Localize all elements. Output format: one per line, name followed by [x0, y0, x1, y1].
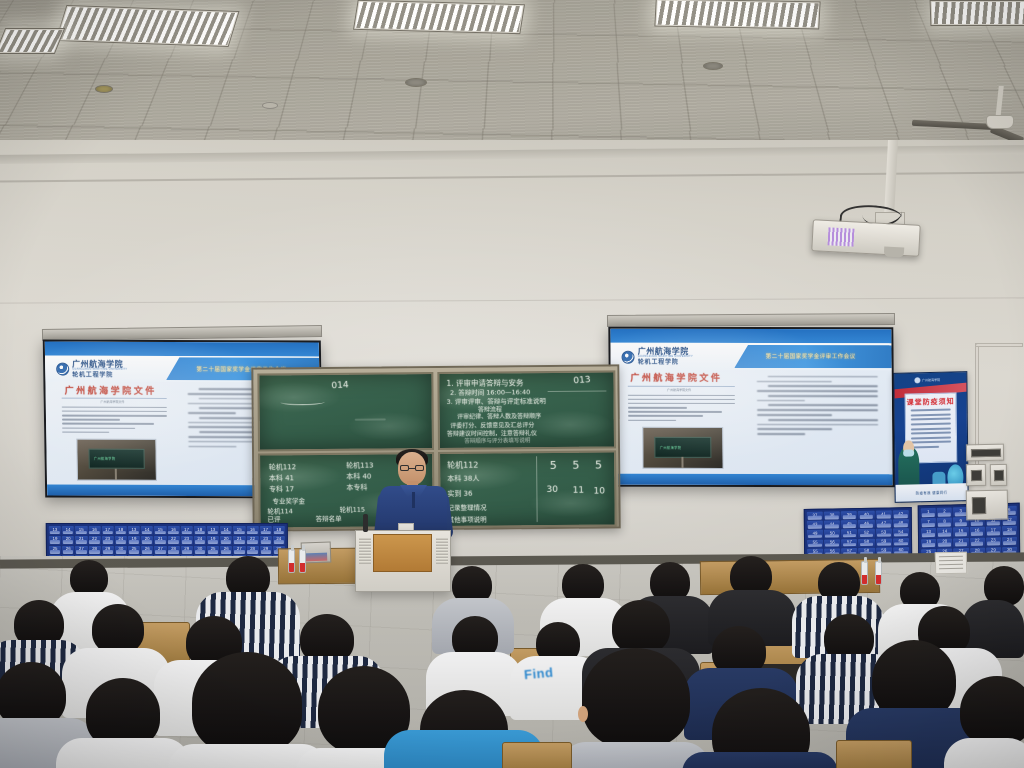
phone-pocket[interactable]: 22	[246, 536, 258, 545]
phone-pocket[interactable]: 22	[167, 536, 179, 545]
ceiling-light-fixture	[654, 0, 820, 29]
phone-pocket[interactable]: 27	[154, 546, 166, 555]
wall-switch-box[interactable]	[966, 464, 986, 486]
slide-left-column-text	[628, 394, 735, 423]
phone-pocket[interactable]: 43	[807, 521, 823, 529]
lecture-hall-photo: 广州航海学院 GUANGZHOU MARITIME UNIVERSITY 轮机工…	[0, 0, 1024, 768]
ceiling	[0, 0, 1024, 150]
slide-header-banner: 第二十届国家奖学金评审工作会议	[734, 345, 892, 369]
phone-pocket[interactable]: 25	[128, 546, 140, 555]
phone-pocket[interactable]: 19	[207, 536, 219, 545]
phone-pocket[interactable]: 24	[1002, 536, 1017, 546]
department-name: 轮机工程学院	[72, 372, 127, 378]
phone-pocket[interactable]: 27	[233, 546, 245, 555]
phone-pocket[interactable]: 45	[841, 520, 857, 528]
poster-rule-list	[910, 409, 951, 451]
phone-pocket[interactable]: 26	[62, 546, 74, 555]
phone-pocket[interactable]: 41	[875, 510, 891, 518]
phone-pocket[interactable]: 29	[102, 546, 114, 555]
phone-pocket[interactable]: 13	[921, 528, 936, 538]
phone-pocket[interactable]: 20	[62, 536, 74, 545]
phone-pocket[interactable]: 57	[841, 539, 857, 547]
phone-pocket[interactable]: 25	[49, 546, 61, 555]
phone-pocket[interactable]: 26	[141, 546, 153, 555]
phone-pocket[interactable]: 17	[180, 526, 192, 535]
shirt-graphic-text: Find	[523, 665, 554, 683]
phone-pocket[interactable]: 14	[62, 526, 74, 535]
phone-pocket[interactable]: 22	[88, 536, 100, 545]
slide-date-line: 广州航海学院文件	[667, 387, 691, 391]
phone-pocket[interactable]: 19	[49, 536, 61, 545]
phone-pocket[interactable]: 18	[273, 526, 285, 535]
ceiling-vent	[95, 85, 113, 93]
student-head	[192, 652, 302, 754]
phone-pocket[interactable]: 52	[858, 529, 874, 537]
ceiling-fan-motor	[986, 115, 1014, 129]
glasses-icon	[400, 465, 424, 471]
phone-pocket[interactable]: 2	[937, 507, 952, 517]
phone-pocket[interactable]: 13	[207, 526, 219, 535]
phone-pocket[interactable]: 13	[128, 526, 140, 535]
phone-pocket[interactable]: 14	[141, 526, 153, 535]
projector-lens	[884, 246, 904, 257]
institution-name-en: GUANGZHOU MARITIME UNIVERSITY	[72, 369, 127, 372]
phone-pocket[interactable]: 42	[893, 510, 909, 518]
phone-pocket[interactable]: 26	[220, 546, 232, 555]
phone-pocket[interactable]: 15	[75, 526, 87, 535]
phone-pocket[interactable]: 55	[807, 539, 823, 547]
ceiling-light-fixture	[353, 0, 525, 34]
water-bottle	[875, 561, 882, 585]
poster-org-logo: 广州航海学院	[915, 377, 941, 384]
student-head	[92, 604, 144, 654]
poster-org-name: 广州航海学院	[922, 378, 940, 382]
phone-pocket[interactable]: 60	[893, 538, 909, 546]
university-crest-icon	[56, 363, 69, 376]
slide-left-column-text	[62, 406, 167, 436]
phone-pocket[interactable]: 56	[824, 539, 840, 547]
poster-footer-text: 防疫有我 健康同行	[916, 490, 948, 496]
ceiling-vent	[405, 78, 427, 87]
phone-pocket[interactable]: 15	[233, 526, 245, 535]
phone-pocket[interactable]: 22	[970, 537, 985, 547]
phone-pocket[interactable]: 21	[953, 538, 968, 548]
phone-pocket[interactable]: 28	[167, 546, 179, 555]
phone-pocket[interactable]: 16	[88, 526, 100, 535]
wall-switch-box[interactable]	[990, 464, 1007, 486]
phone-pocket[interactable]: 24	[273, 536, 285, 545]
slide-date-line: 广州航海学院文件	[100, 399, 124, 403]
slide-photo-thumbnail: 广州航海学院	[642, 427, 724, 469]
poster-footer: 防疫有我 健康同行	[896, 483, 968, 501]
blackboard-panel-upper-left: 014	[257, 372, 434, 452]
phone-pocket[interactable]: 18	[1002, 526, 1017, 536]
phone-pocket[interactable]: 40	[858, 511, 874, 519]
phone-pocket[interactable]: 49	[807, 530, 823, 538]
phone-pocket[interactable]: 39	[841, 511, 857, 519]
slide-bottom-band	[612, 474, 893, 485]
phone-pocket[interactable]: 30	[194, 546, 206, 555]
phone-pocket[interactable]: 16	[167, 526, 179, 535]
phone-pocket[interactable]: 21	[75, 536, 87, 545]
phone-pocket[interactable]: 14	[220, 526, 232, 535]
projection-screen-right: 广州航海学院 GUANGZHOU MARITIME UNIVERSITY 轮机工…	[608, 327, 894, 487]
student-head	[70, 560, 108, 596]
phone-pocket[interactable]: 18	[115, 526, 127, 535]
thumbnail-caption: 广州航海学院	[94, 456, 116, 461]
slide-photo-thumbnail: 广州航海学院	[76, 439, 156, 481]
university-crest-icon	[622, 350, 635, 363]
wall-control-panel[interactable]	[966, 444, 1004, 462]
wall-electrical-box[interactable]	[966, 490, 1009, 521]
phone-pocket[interactable]: 27	[75, 546, 87, 555]
phone-pocket[interactable]: 14	[937, 528, 952, 538]
phone-pocket[interactable]: 20	[220, 536, 232, 545]
phone-pocket[interactable]: 7	[921, 518, 936, 528]
phone-pocket[interactable]: 47	[875, 520, 891, 528]
phone-pocket[interactable]: 20	[141, 536, 153, 545]
ceiling-light-fixture	[0, 28, 65, 54]
student-chair	[502, 742, 572, 768]
phone-pocket[interactable]: 15	[953, 527, 968, 537]
ceiling-light-fixture	[930, 0, 1024, 26]
blackboard-panel-lower-right: 轮机112 本科 38人 实到 36 记录整理情况 其他事项说明 5 5 5 3…	[438, 450, 617, 528]
phone-pocket[interactable]: 21	[233, 536, 245, 545]
phone-pocket[interactable]: 29	[260, 546, 272, 555]
podium-front-panel	[373, 534, 432, 572]
slide-right: 广州航海学院 GUANGZHOU MARITIME UNIVERSITY 轮机工…	[610, 329, 892, 485]
student-body	[682, 752, 838, 768]
phone-pocket[interactable]: 59	[876, 538, 892, 546]
phone-pocket[interactable]: 37	[807, 512, 823, 520]
phone-pocket[interactable]: 18	[194, 526, 206, 535]
thumbnail-caption: 广州航海学院	[660, 445, 682, 450]
phone-pocket[interactable]: 46	[858, 520, 874, 528]
student-head	[612, 600, 670, 654]
podium-speaker-grill	[359, 538, 371, 564]
poster-crest-icon	[915, 377, 921, 383]
phone-pocket[interactable]: 17	[101, 526, 113, 535]
phone-pocket[interactable]: 48	[893, 519, 909, 527]
blackboard-panel-upper-right: 1. 评审申请答辩与安务 013 2. 答辩时间 16:00—16:40 3. …	[437, 370, 616, 450]
water-bottle	[299, 549, 306, 573]
slide-banner-text: 第二十届国家奖学金评审工作会议	[766, 352, 856, 360]
podium-speaker-grill	[436, 538, 448, 564]
phone-pocket[interactable]: 25	[207, 546, 219, 555]
phone-pocket[interactable]: 17	[986, 526, 1001, 536]
phone-pocket[interactable]: 54	[893, 528, 909, 536]
speaker-shirt-placket	[412, 492, 415, 508]
phone-pocket[interactable]: 53	[876, 529, 892, 537]
poster-title: 课堂防疫须知	[906, 397, 956, 408]
projection-screen-case-right	[607, 313, 895, 327]
phone-pocket[interactable]: 30	[115, 546, 127, 555]
slide-top-band	[610, 329, 891, 344]
department-name: 轮机工程学院	[638, 360, 693, 366]
student-chair	[836, 740, 912, 768]
phone-pocket[interactable]: 1	[921, 508, 936, 518]
student-head	[960, 676, 1024, 746]
phone-pocket[interactable]: 23	[986, 537, 1001, 547]
phone-pocket[interactable]: 19	[921, 538, 936, 548]
slide-document-title: 广州航海学院文件	[630, 371, 722, 384]
phone-pocket[interactable]: 28	[88, 546, 100, 555]
phone-pocket[interactable]: 20	[937, 538, 952, 548]
student-ear	[578, 706, 588, 722]
water-bottle	[861, 561, 868, 585]
phone-pocket[interactable]: 23	[260, 536, 272, 545]
phone-pocket[interactable]: 58	[858, 538, 874, 546]
ceiling-vent	[703, 62, 723, 70]
institution-name-en: GUANGZHOU MARITIME UNIVERSITY	[638, 356, 693, 359]
phone-pocket[interactable]: 24	[115, 536, 127, 545]
phone-pocket[interactable]: 15	[154, 526, 166, 535]
phone-pocket[interactable]: 19	[128, 536, 140, 545]
student-body	[944, 738, 1024, 768]
wall-conduit	[975, 343, 1023, 347]
student-head	[582, 648, 690, 748]
phone-pocket[interactable]: 38	[824, 511, 840, 519]
projector-vent	[828, 227, 855, 246]
microphone-icon	[363, 514, 368, 532]
phone-pocket[interactable]: 28	[246, 546, 258, 555]
smoke-detector-icon	[262, 102, 278, 109]
slide-body-text	[757, 376, 878, 438]
covid-prevention-poster: 广州航海学院 课堂防疫须知 防疫有我 健康同行	[893, 371, 968, 503]
phone-pocket[interactable]: 50	[824, 530, 840, 538]
phone-pocket[interactable]: 51	[841, 529, 857, 537]
wall-notice-paper	[935, 552, 967, 575]
phone-pocket[interactable]: 13	[49, 526, 61, 535]
ceiling-light-fixture	[55, 5, 239, 47]
phone-pocket[interactable]: 16	[246, 526, 258, 535]
phone-pocket[interactable]: 21	[154, 536, 166, 545]
slide-top-band	[45, 342, 319, 357]
phone-pocket[interactable]: 16	[969, 527, 984, 537]
phone-pocket[interactable]: 29	[181, 546, 193, 555]
phone-pocket[interactable]: 44	[824, 520, 840, 528]
phone-pocket[interactable]: 17	[259, 526, 271, 535]
phone-pocket[interactable]: 23	[181, 536, 193, 545]
slide-document-title: 广州航海学院文件	[65, 383, 157, 396]
water-bottle	[288, 549, 295, 573]
phone-pocket[interactable]: 24	[194, 536, 206, 545]
phone-pocket[interactable]: 8	[937, 518, 952, 528]
phone-pocket[interactable]: 23	[102, 536, 114, 545]
